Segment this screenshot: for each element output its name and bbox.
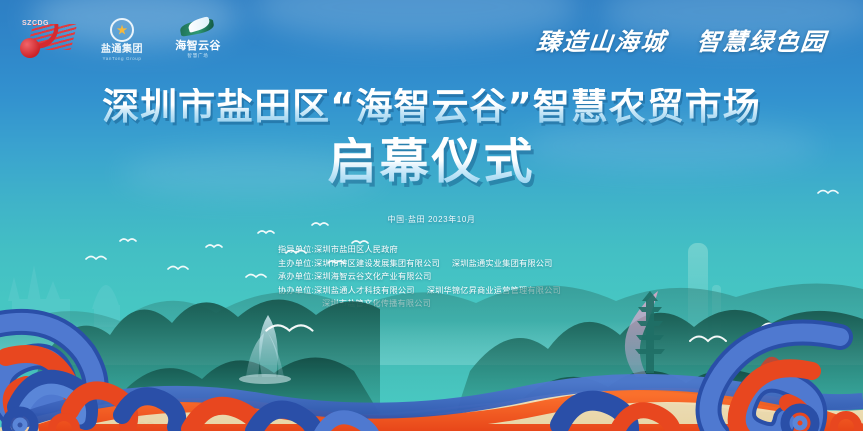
organization-entry: 深圳盐通实业集团有限公司 (452, 259, 553, 268)
page-title: 深圳市盐田区“海智云谷”智慧农贸市场 (0, 88, 863, 125)
logo-bar: SZCDG 盐通集团 YanTong Group 海智云谷 智慧广场 (14, 18, 228, 61)
organization-line: 深圳市盐管文化传播有限公司 (278, 297, 561, 311)
event-banner-poster: SZCDG 盐通集团 YanTong Group 海智云谷 智慧广场 臻造山海城… (0, 0, 863, 431)
organization-line: 承办单位:深圳海智云谷文化产业有限公司 (278, 270, 561, 284)
logo-a-mark-text: SZCDG (22, 20, 49, 27)
organization-entry: 深圳盐通人才科技有限公司 (314, 286, 415, 295)
yantong-group-logo: 盐通集团 YanTong Group (94, 18, 150, 61)
organization-entry: 深圳海智云谷文化产业有限公司 (314, 272, 431, 281)
logo-c-name-en: 智慧广场 (168, 53, 228, 59)
title-block: 深圳市盐田区“海智云谷”智慧农贸市场 启幕仪式 (0, 88, 863, 186)
slogan-part1: 臻造山海城 (535, 30, 668, 56)
haizhi-yungu-logo: 海智云谷 智慧广场 (168, 18, 228, 59)
organization-label: 承办单位: (278, 272, 314, 281)
organization-list: 指导单位:深圳市盐田区人民政府主办单位:深圳市特区建设发展集团有限公司深圳盐通实… (278, 243, 561, 311)
organization-entry: 深圳华锦亿昇商业运营管理有限公司 (427, 286, 561, 295)
organization-line: 主办单位:深圳市特区建设发展集团有限公司深圳盐通实业集团有限公司 (278, 257, 561, 271)
cloud-decoration (250, 0, 580, 42)
organization-label: 主办单位: (278, 259, 314, 268)
wave-leaf-icon (180, 18, 216, 38)
organization-entry: 深圳市盐管文化传播有限公司 (322, 299, 431, 308)
slogan: 臻造山海城 智慧绿色园 (535, 22, 829, 57)
organization-label: 协办单位: (278, 286, 314, 295)
dateline: 中国·盐田 2023年10月 (0, 214, 863, 225)
red-sphere-icon (20, 38, 40, 58)
organization-line: 协办单位:深圳盐通人才科技有限公司深圳华锦亿昇商业运营管理有限公司 (278, 284, 561, 298)
star-circle-icon (110, 18, 134, 42)
logo-c-name-cn: 海智云谷 (168, 40, 228, 52)
slogan-part2: 智慧绿色园 (695, 30, 828, 56)
organization-line: 指导单位:深圳市盐田区人民政府 (278, 243, 561, 257)
logo-b-name-cn: 盐通集团 (94, 44, 150, 55)
organization-entry: 深圳市盐田区人民政府 (314, 245, 398, 254)
shenzhen-sez-construction-logo: SZCDG (14, 18, 76, 60)
organization-label: 指导单位: (278, 245, 314, 254)
page-subtitle: 启幕仪式 (0, 137, 863, 186)
organization-entry: 深圳市特区建设发展集团有限公司 (314, 259, 440, 268)
logo-b-name-en: YanTong Group (94, 56, 150, 61)
